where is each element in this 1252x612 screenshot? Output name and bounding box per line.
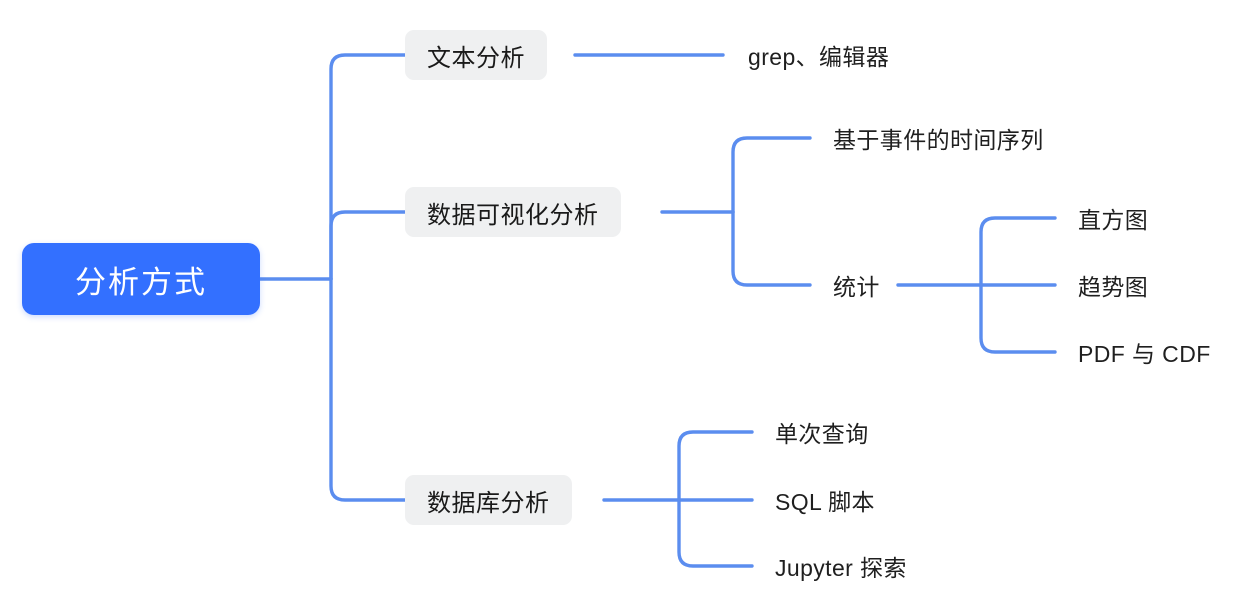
leaf-node-histogram[interactable]: 直方图: [1078, 201, 1148, 235]
sub-node-statistics-label: 统计: [833, 268, 880, 302]
leaf-node-pdf-cdf[interactable]: PDF 与 CDF: [1078, 335, 1211, 369]
connector-root-to-text-analysis: [331, 55, 405, 279]
leaf-node-grep-editor[interactable]: grep、编辑器: [748, 38, 889, 72]
leaf-node-sql-script-label: SQL 脚本: [775, 483, 875, 517]
leaf-node-grep-editor-label: grep、编辑器: [748, 38, 889, 72]
connector-statistics-to-histogram: [981, 218, 1055, 285]
leaf-node-event-timeseries[interactable]: 基于事件的时间序列: [833, 121, 1044, 155]
sub-node-statistics[interactable]: 统计: [833, 268, 880, 302]
leaf-node-sql-script[interactable]: SQL 脚本: [775, 483, 875, 517]
leaf-node-jupyter-exploration-label: Jupyter 探索: [775, 549, 907, 583]
connector-database-to-jupyter: [679, 500, 752, 566]
branch-node-text-analysis[interactable]: 文本分析: [405, 30, 547, 80]
root-node[interactable]: 分析方式: [22, 243, 260, 315]
branch-node-database-analysis-label: 数据库分析: [427, 483, 550, 518]
leaf-node-trend-chart-label: 趋势图: [1078, 268, 1148, 302]
leaf-node-histogram-label: 直方图: [1078, 201, 1148, 235]
connector-visualization-to-timeseries: [733, 138, 810, 212]
leaf-node-trend-chart[interactable]: 趋势图: [1078, 268, 1148, 302]
leaf-node-jupyter-exploration[interactable]: Jupyter 探索: [775, 549, 907, 583]
connector-root-to-database: [331, 279, 405, 500]
leaf-node-single-query[interactable]: 单次查询: [775, 415, 869, 449]
branch-node-database-analysis[interactable]: 数据库分析: [405, 475, 572, 525]
leaf-node-event-timeseries-label: 基于事件的时间序列: [833, 121, 1044, 155]
leaf-node-pdf-cdf-label: PDF 与 CDF: [1078, 335, 1211, 369]
branch-node-text-analysis-label: 文本分析: [427, 38, 525, 73]
connector-database-to-single-query: [679, 432, 752, 500]
connector-visualization-to-statistics: [733, 212, 810, 285]
branch-node-data-visualization[interactable]: 数据可视化分析: [405, 187, 621, 237]
mindmap-canvas: 分析方式 文本分析 grep、编辑器 数据可视化分析 基于事件的时间序列 统计 …: [0, 0, 1252, 612]
leaf-node-single-query-label: 单次查询: [775, 415, 869, 449]
root-node-label: 分析方式: [75, 257, 207, 302]
branch-node-data-visualization-label: 数据可视化分析: [427, 195, 599, 230]
connector-root-to-visualization: [331, 212, 405, 279]
connector-statistics-to-pdfcdf: [981, 285, 1055, 352]
